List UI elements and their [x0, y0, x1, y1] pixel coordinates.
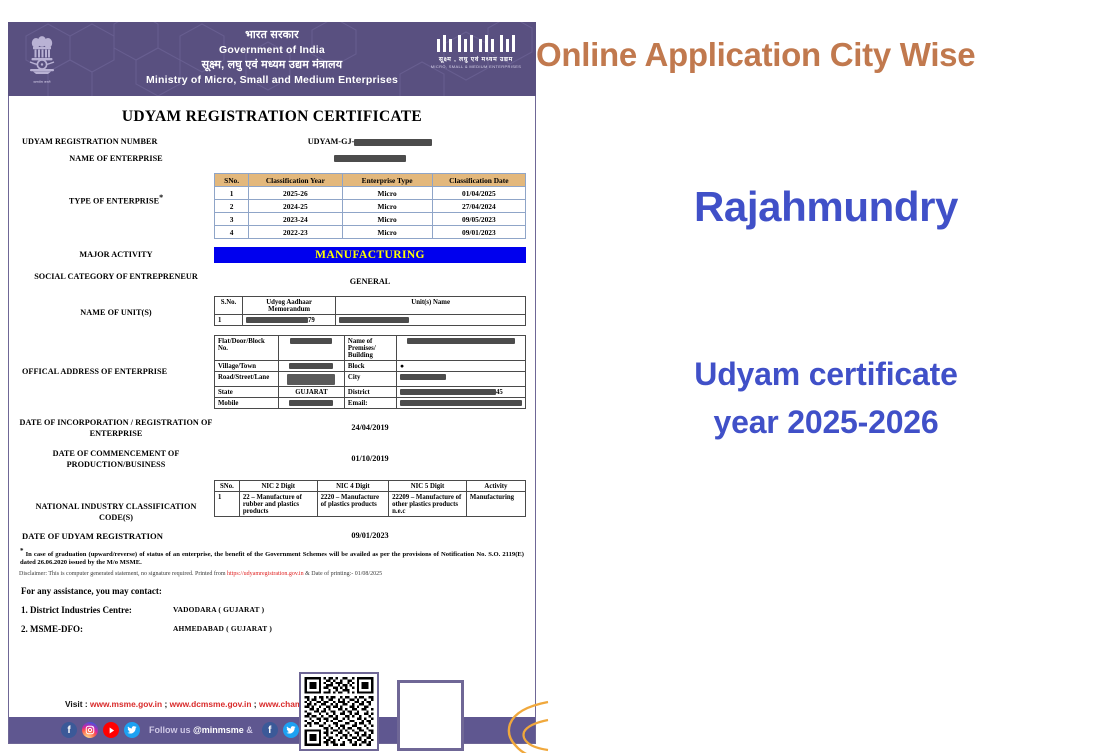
social-category-value: GENERAL [214, 272, 526, 286]
redacted-district [400, 389, 496, 395]
th-sno: SNo. [215, 481, 240, 492]
type-of-enterprise-label: TYPE OF ENTERPRISE* [18, 173, 214, 207]
certificate-body: UDYAM REGISTRATION CERTIFICATE UDYAM REG… [8, 96, 536, 744]
table-row: State GUJARAT District 45 [215, 387, 526, 398]
date-udyam-registration-value: 09/01/2023 [214, 531, 526, 540]
redacted-mobile [289, 400, 333, 406]
nic-table: SNo. NIC 2 Digit NIC 4 Digit NIC 5 Digit… [214, 480, 526, 517]
handle-minmsme: @minmsme [193, 725, 244, 735]
th-uam: Udyog Aadhaar Memorandum [242, 297, 335, 315]
redacted-village [289, 363, 333, 369]
name-of-enterprise-label: NAME OF ENTERPRISE [18, 154, 214, 165]
contact-value-dic: VADODARA ( GUJARAT ) [173, 605, 264, 615]
blank-overlay-box [397, 680, 464, 751]
cell-year: 2022-23 [249, 226, 342, 239]
th-nic5: NIC 5 Digit [389, 481, 467, 492]
registration-number-label: UDYAM REGISTRATION NUMBER [18, 137, 214, 148]
label-email: Email: [344, 398, 396, 409]
twitter-bird-icon [127, 725, 137, 735]
registration-number-prefix: UDYAM-GJ- [308, 137, 355, 146]
certificate-header-band: सत्यमेव जयते भारत सरकार Government of In… [8, 22, 536, 96]
follow-prefix: Follow us [149, 725, 193, 735]
follow-ampersand: & [244, 725, 253, 735]
twitter-icon-secondary[interactable] [283, 722, 299, 738]
table-row: Mobile Email: [215, 398, 526, 409]
date-incorporation-value: 24/04/2019 [214, 418, 526, 432]
field-date-commencement: DATE OF COMMENCEMENT OF PRODUCTION/BUSIN… [18, 449, 526, 470]
disclaimer-line: Disclaimer: This is computer generated s… [18, 571, 526, 577]
table-row: 1 79 [215, 315, 526, 326]
redacted-registration-number [354, 139, 432, 146]
headline-subtitle-line2: year 2025-2026 [536, 398, 1116, 446]
redacted-premises [407, 338, 515, 344]
field-major-activity: MAJOR ACTIVITY MANUFACTURING [18, 247, 526, 263]
qr-code-box [299, 672, 379, 751]
label-village-town: Village/Town [215, 361, 279, 372]
cell-sno: 1 [215, 492, 240, 517]
name-of-enterprise-value [214, 154, 526, 163]
msme-subtitle-english: MICRO, SMALL & MEDIUM ENTERPRISES [430, 64, 522, 69]
value-email [396, 398, 525, 409]
assistance-heading: For any assistance, you may contact: [18, 586, 526, 596]
cell-type: Micro [342, 213, 432, 226]
redacted-city [400, 374, 446, 380]
label-premises-building: Name of Premises/ Building [344, 336, 396, 361]
label-city: City [344, 372, 396, 387]
label-flat-door-block: Flat/Door/Block No. [215, 336, 279, 361]
cell-sno: 3 [215, 213, 249, 226]
th-activity: Activity [466, 481, 525, 492]
cell-type: Micro [342, 187, 432, 200]
social-category-label: SOCIAL CATEGORY OF ENTREPRENEUR [18, 272, 214, 283]
table-row: 1 22 – Manufacture of rubber and plastic… [215, 492, 526, 517]
contact-row-dic: 1. District Industries Centre: VADODARA … [18, 605, 526, 615]
nic-table-wrap: SNo. NIC 2 Digit NIC 4 Digit NIC 5 Digit… [214, 480, 526, 517]
instagram-glyph-icon [85, 725, 95, 735]
cell-unit-name [336, 315, 526, 326]
headline-city-name: Rajahmundry [536, 183, 1116, 231]
cell-date: 09/05/2023 [432, 213, 525, 226]
headline-subtitle: Udyam certificate year 2025-2026 [536, 350, 1116, 446]
cell-year: 2025-26 [249, 187, 342, 200]
cell-date: 09/01/2023 [432, 226, 525, 239]
field-nic-codes: NATIONAL INDUSTRY CLASSIFICATION CODE(S)… [18, 480, 526, 523]
msme-logo: सूक्ष्म , लघु एवं मध्यम उद्यम MICRO, SMA… [430, 32, 522, 69]
label-mobile: Mobile [215, 398, 279, 409]
field-date-udyam-registration: DATE OF UDYAM REGISTRATION 09/01/2023 [18, 531, 526, 542]
date-udyam-registration-label: DATE OF UDYAM REGISTRATION [18, 531, 214, 542]
th-classification-date: Classification Date [432, 174, 525, 187]
label-road-street-lane: Road/Street/Lane [215, 372, 279, 387]
field-name-of-enterprise: NAME OF ENTERPRISE [18, 154, 526, 165]
swoosh-decoration [470, 698, 550, 753]
contact-label-dic: 1. District Industries Centre: [21, 605, 173, 615]
headline-subtitle-line1: Udyam certificate [536, 350, 1116, 398]
table-header-row: SNo. NIC 2 Digit NIC 4 Digit NIC 5 Digit… [215, 481, 526, 492]
registration-number-value: UDYAM-GJ- [214, 137, 526, 146]
value-village-town [278, 361, 344, 372]
value-district: 45 [396, 387, 525, 398]
table-row: 42022-23Micro09/01/2023 [215, 226, 526, 239]
value-block: ● [396, 361, 525, 372]
instagram-icon[interactable] [82, 722, 98, 738]
facebook-icon[interactable]: f [61, 722, 77, 738]
table-row: 12025-26Micro01/04/2025 [215, 187, 526, 200]
field-official-address: OFFICAL ADDRESS OF ENTERPRISE Flat/Door/… [18, 335, 526, 409]
msme-subtitle-hindi: सूक्ष्म , लघु एवं मध्यम उद्यम [430, 55, 522, 63]
link-msme-gov[interactable]: www.msme.gov.in [90, 699, 162, 709]
cell-nic2: 22 – Manufacture of rubber and plastics … [239, 492, 317, 517]
th-classification-year: Classification Year [249, 174, 342, 187]
value-state: GUJARAT [278, 387, 344, 398]
table-row: Road/Street/Lane City [215, 372, 526, 387]
table-header-row: S.No. Udyog Aadhaar Memorandum Unit(s) N… [215, 297, 526, 315]
th-nic4: NIC 4 Digit [317, 481, 389, 492]
major-activity-value-wrap: MANUFACTURING [214, 247, 526, 263]
cell-year: 2023-24 [249, 213, 342, 226]
value-mobile [278, 398, 344, 409]
redacted-enterprise-name [334, 155, 406, 162]
date-commencement-label: DATE OF COMMENCEMENT OF PRODUCTION/BUSIN… [18, 449, 214, 470]
uam-suffix: 79 [308, 317, 315, 324]
address-table-wrap: Flat/Door/Block No. Name of Premises/ Bu… [214, 335, 526, 409]
redacted-uam-number [246, 317, 308, 323]
cell-nic4: 2220 – Manufacture of plastics products [317, 492, 389, 517]
cell-type: Micro [342, 226, 432, 239]
cell-date: 01/04/2025 [432, 187, 525, 200]
address-table: Flat/Door/Block No. Name of Premises/ Bu… [214, 335, 526, 409]
value-premises-building [396, 336, 525, 361]
cell-uam: 79 [242, 315, 335, 326]
field-social-category: SOCIAL CATEGORY OF ENTREPRENEUR GENERAL [18, 272, 526, 286]
field-date-incorporation: DATE OF INCORPORATION / REGISTRATION OF … [18, 418, 526, 439]
date-commencement-value: 01/10/2019 [214, 449, 526, 463]
major-activity-label: MAJOR ACTIVITY [18, 247, 214, 261]
cell-year: 2024-25 [249, 200, 342, 213]
cell-date: 27/04/2024 [432, 200, 525, 213]
visit-separator-1: ; [162, 699, 169, 709]
th-unit-name: Unit(s) Name [336, 297, 526, 315]
th-enterprise-type: Enterprise Type [342, 174, 432, 187]
name-of-units-label: NAME OF UNIT(S) [18, 296, 214, 319]
redacted-flat-no [290, 338, 332, 344]
th-sno: SNo. [215, 174, 249, 187]
qr-code-icon [304, 677, 374, 746]
label-block: Block [344, 361, 396, 372]
promo-text-panel: Online Application City Wise Rajahmundry… [536, 0, 1116, 753]
field-name-of-units: NAME OF UNIT(S) S.No. Udyog Aadhaar Memo… [18, 296, 526, 326]
label-state: State [215, 387, 279, 398]
enterprise-type-table: SNo. Classification Year Enterprise Type… [214, 173, 526, 239]
cell-type: Micro [342, 200, 432, 213]
table-header-row: SNo. Classification Year Enterprise Type… [215, 174, 526, 187]
headline-online-application: Online Application City Wise [536, 36, 1116, 74]
th-nic2: NIC 2 Digit [239, 481, 317, 492]
udyam-certificate-image: सत्यमेव जयते भारत सरकार Government of In… [8, 22, 536, 744]
table-row: Flat/Door/Block No. Name of Premises/ Bu… [215, 336, 526, 361]
cell-sno: 1 [215, 315, 243, 326]
youtube-icon[interactable] [103, 722, 119, 738]
visit-separator-2: ; [251, 699, 258, 709]
msme-wordmark-icon [430, 32, 522, 52]
nic-label: NATIONAL INDUSTRY CLASSIFICATION CODE(S) [18, 480, 214, 523]
table-row: 32023-24Micro09/05/2023 [215, 213, 526, 226]
graduation-footnote-text: In case of graduation (upward/reverse) o… [20, 551, 524, 567]
disclaimer-prefix: Disclaimer: This is computer generated s… [19, 571, 227, 577]
district-pincode-suffix: 45 [496, 389, 503, 396]
redacted-road [287, 374, 335, 385]
screenshot-root: सत्यमेव जयते भारत सरकार Government of In… [0, 0, 1116, 753]
header-line-english-2: Ministry of Micro, Small and Medium Ente… [8, 73, 536, 88]
contact-row-dfo: 2. MSME-DFO: AHMEDABAD ( GUJARAT ) [18, 624, 526, 634]
table-row: 22024-25Micro27/04/2024 [215, 200, 526, 213]
cell-sno: 1 [215, 187, 249, 200]
th-sno: S.No. [215, 297, 243, 315]
youtube-play-icon [107, 726, 116, 735]
type-of-enterprise-table-wrap: SNo. Classification Year Enterprise Type… [214, 173, 526, 239]
visit-label: Visit : [65, 699, 90, 709]
cell-sno: 4 [215, 226, 249, 239]
field-type-of-enterprise: TYPE OF ENTERPRISE* SNo. Classification … [18, 173, 526, 239]
date-incorporation-label: DATE OF INCORPORATION / REGISTRATION OF … [18, 418, 214, 439]
udyam-registration-link[interactable]: https://udyamregistration.gov.in [227, 571, 304, 577]
official-address-label: OFFICAL ADDRESS OF ENTERPRISE [18, 335, 214, 378]
certificate-title: UDYAM REGISTRATION CERTIFICATE [18, 108, 526, 126]
twitter-bird-icon-secondary [286, 725, 296, 735]
twitter-icon[interactable] [124, 722, 140, 738]
link-dcmsme-gov[interactable]: www.dcmsme.gov.in [170, 699, 252, 709]
follow-us-text: Follow us @minmsme & [149, 725, 253, 735]
contact-value-dfo: AHMEDABAD ( GUJARAT ) [173, 624, 272, 634]
cell-sno: 2 [215, 200, 249, 213]
table-row: Village/Town Block ● [215, 361, 526, 372]
major-activity-banner: MANUFACTURING [214, 247, 526, 263]
field-registration-number: UDYAM REGISTRATION NUMBER UDYAM-GJ- [18, 137, 526, 148]
units-table: S.No. Udyog Aadhaar Memorandum Unit(s) N… [214, 296, 526, 326]
value-flat-door-block [278, 336, 344, 361]
facebook-icon-secondary[interactable]: f [262, 722, 278, 738]
value-road-street-lane [278, 372, 344, 387]
graduation-footnote: * In case of graduation (upward/reverse)… [18, 547, 526, 568]
cell-nic5: 22209 – Manufacture of other plastics pr… [389, 492, 467, 517]
value-city [396, 372, 525, 387]
redacted-email [400, 400, 522, 406]
redacted-unit-name [339, 317, 409, 323]
disclaimer-suffix: & Date of printing:- 01/08/2025 [304, 571, 383, 577]
units-table-wrap: S.No. Udyog Aadhaar Memorandum Unit(s) N… [214, 296, 526, 326]
label-district: District [344, 387, 396, 398]
contact-label-dfo: 2. MSME-DFO: [21, 624, 173, 634]
cell-activity: Manufacturing [466, 492, 525, 517]
